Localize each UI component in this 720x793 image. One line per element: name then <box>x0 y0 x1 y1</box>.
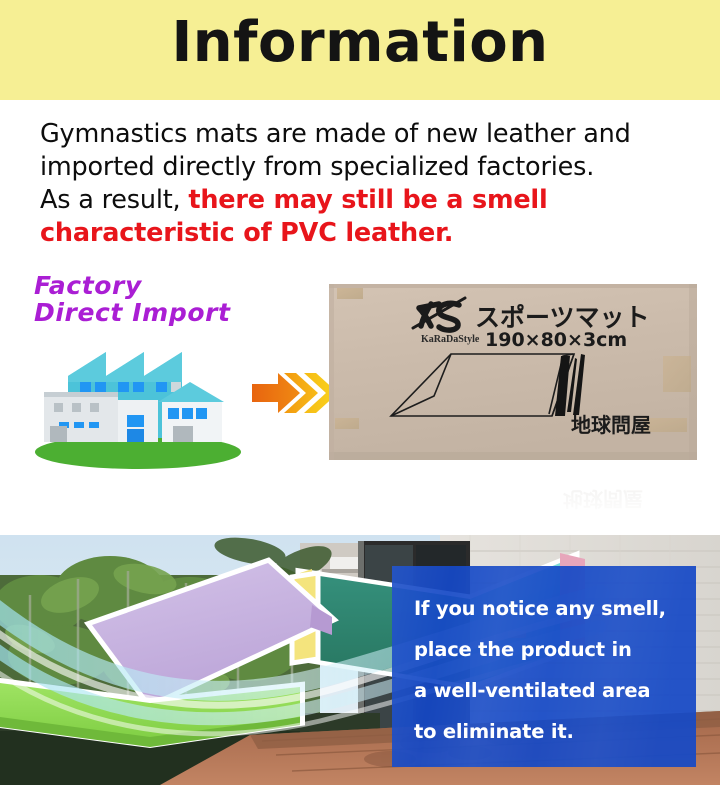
product-box-reflection: 地球問屋 <box>347 470 687 518</box>
header-banner: Information <box>0 0 720 100</box>
callout-line-1: If you notice any smell, <box>414 588 696 629</box>
page-title: Information <box>0 8 720 78</box>
product-name-text: スポーツマット <box>475 303 650 332</box>
factory-buildings-illustration <box>28 330 248 470</box>
factory-direct-import-label: Factory Direct Import <box>34 272 314 326</box>
factory-label-line-2: Direct Import <box>34 299 314 326</box>
intro-line-2: imported directly from specialized facto… <box>40 151 700 184</box>
intro-paragraph: Gymnastics mats are made of new leather … <box>40 118 700 250</box>
distributor-text: 地球問屋 <box>571 413 651 437</box>
zigzag-divider <box>0 88 720 101</box>
callout-line-2: place the product in <box>414 629 696 670</box>
ventilation-callout: If you notice any smell, place the produ… <box>392 566 696 767</box>
dimensions-text: 190×80×3cm <box>485 329 627 351</box>
intro-line-3: As a result, there may still be a smell <box>40 184 700 217</box>
brand-name-text: KaRaDaStyle <box>421 334 480 345</box>
intro-line-4: characteristic of PVC leather. <box>40 217 700 250</box>
callout-line-4: to eliminate it. <box>414 711 696 752</box>
callout-line-3: a well-ventilated area <box>414 670 696 711</box>
intro-line-1: Gymnastics mats are made of new leather … <box>40 118 700 151</box>
information-panel: Information Gymnastics mats are made of … <box>0 0 720 793</box>
product-box-photo: KaRaDaStyle スポーツマット 190×80×3cm 地球問屋 <box>327 280 699 470</box>
factory-direct-import-block: Factory Direct Import <box>28 272 318 472</box>
factory-label-line-1: Factory <box>34 272 314 299</box>
